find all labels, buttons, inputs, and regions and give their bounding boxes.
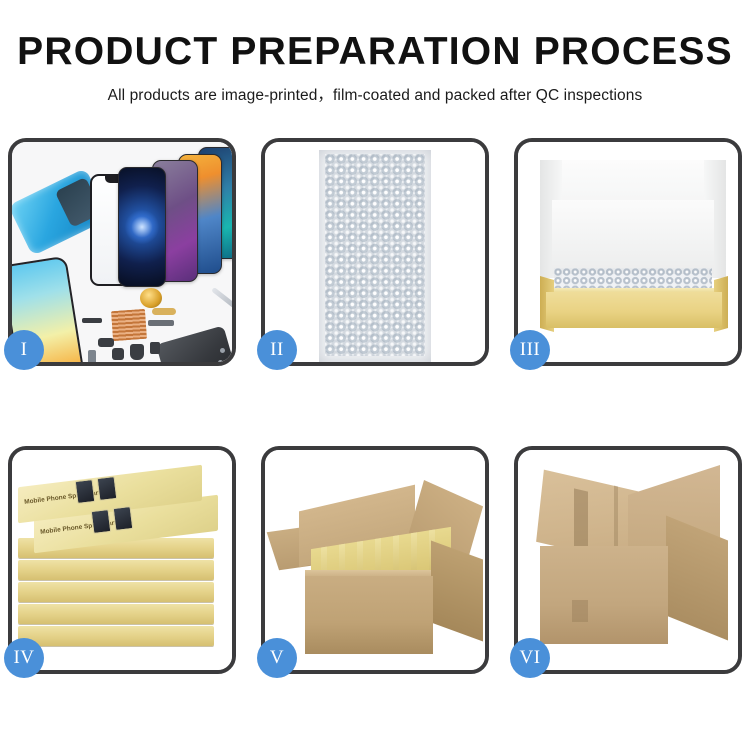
step-6-image (518, 450, 738, 670)
part-chip-icon (112, 348, 124, 360)
process-step-6[interactable]: VI (514, 446, 742, 674)
phone-frame-part-icon (156, 325, 232, 362)
copper-mesh-part-icon (111, 309, 147, 341)
part-chip-icon (150, 342, 160, 354)
flex-cable-part-icon (152, 308, 176, 315)
box-label-screen-icon (97, 476, 118, 501)
step-3-image (518, 142, 738, 362)
process-step-3[interactable]: III (514, 138, 742, 366)
step-1-image (12, 142, 232, 362)
process-step-5[interactable]: V (261, 446, 489, 674)
part-chip-icon (82, 318, 102, 323)
carton-front-icon (305, 576, 433, 654)
step-2-image (265, 142, 485, 362)
process-step-1[interactable]: I (8, 138, 236, 366)
box-label-screen-icon (75, 479, 96, 504)
stacked-box (18, 582, 214, 602)
carton-side-icon (431, 541, 483, 642)
step-badge-2: II (257, 330, 297, 370)
carton-tape-lower-icon (572, 600, 588, 622)
part-chip-icon (98, 338, 114, 347)
box-label-screen-icon (91, 509, 112, 534)
part-chip-icon (88, 350, 96, 362)
page-header: PRODUCT PREPARATION PROCESS All products… (0, 0, 750, 105)
page-title: PRODUCT PREPARATION PROCESS (0, 32, 750, 73)
step-badge-4: IV (4, 638, 44, 678)
kraft-box-front-icon (546, 292, 722, 328)
step-5-image (265, 450, 485, 670)
page-subtitle: All products are image-printed，film-coat… (0, 83, 750, 105)
step-badge-3: III (510, 330, 550, 370)
screwdriver-icon (211, 287, 232, 318)
carton-front-icon (540, 546, 668, 644)
process-step-4[interactable]: Mobile Phone Spare Parts Mobile Phone Sp… (8, 446, 236, 674)
screw-icon (220, 348, 225, 353)
step-4-image: Mobile Phone Spare Parts Mobile Phone Sp… (12, 450, 232, 670)
screw-icon (218, 360, 223, 362)
bubble-grid-highlight-icon (325, 154, 425, 356)
gold-spool-part-icon (140, 288, 162, 308)
box-stack-icon: Mobile Phone Spare Parts Mobile Phone Sp… (12, 450, 232, 670)
white-foam-icon (552, 200, 714, 274)
screw-icon (228, 356, 232, 361)
step-badge-6: VI (510, 638, 550, 678)
step-badge-5: V (257, 638, 297, 678)
part-chip-icon (130, 344, 144, 360)
stacked-box (18, 626, 214, 646)
process-step-grid: I II III (8, 138, 742, 674)
flex-cable-part-icon (148, 320, 174, 326)
step-badge-1: I (4, 330, 44, 370)
stacked-box (18, 560, 214, 580)
stacked-box (18, 604, 214, 624)
box-label-screen-icon (113, 506, 134, 531)
phone-blue-icon (118, 167, 166, 287)
process-step-2[interactable]: II (261, 138, 489, 366)
